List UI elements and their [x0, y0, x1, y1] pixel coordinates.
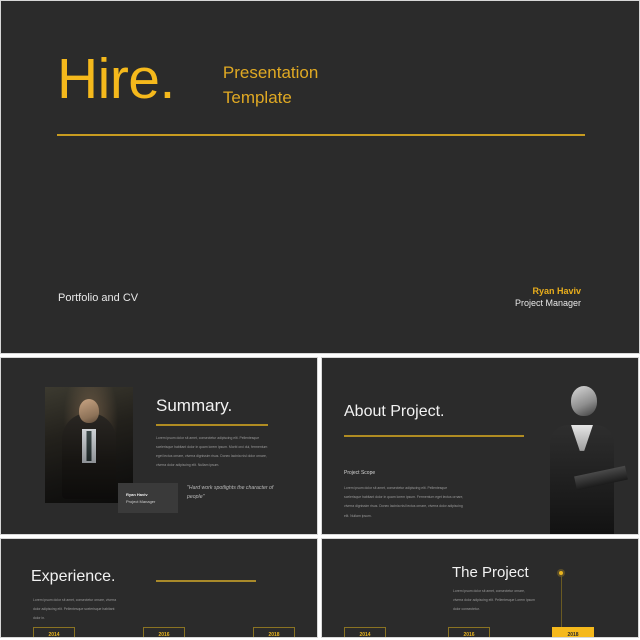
hero-footer-label: Portfolio and CV: [58, 292, 138, 304]
the-project-year-list: 2014 2016 2018: [344, 627, 594, 638]
photo-head: [79, 399, 99, 423]
hero-title-row: Hire. Presentation Template: [57, 53, 318, 110]
experience-divider-rule: [156, 580, 256, 582]
experience-body-text: Lorem ipsum dolor sit amet, consectetur …: [33, 596, 121, 624]
hero-slide[interactable]: Hire. Presentation Template Portfolio an…: [0, 0, 640, 354]
slide-row-bottom: Experience. Lorem ipsum dolor sit amet, …: [0, 538, 640, 638]
hero-subtitle-line-1: Presentation: [223, 61, 318, 86]
hero-byline: Ryan Haviv Project Manager: [515, 285, 581, 309]
slide-deck-preview: Hire. Presentation Template Portfolio an…: [0, 0, 640, 640]
experience-year-list: 2014 2016 2018: [33, 627, 295, 638]
timeline-connector-line: [561, 575, 562, 627]
about-project-body-text: Lorem ipsum dolor sit amet, consectetur …: [344, 484, 464, 521]
hero-subtitle: Presentation Template: [223, 61, 318, 110]
the-project-year-item[interactable]: 2014: [344, 627, 386, 638]
hero-divider-rule: [57, 134, 585, 136]
hero-subtitle-line-2: Template: [223, 86, 318, 111]
about-project-slide[interactable]: About Project. Project Scope Lorem ipsum…: [321, 357, 639, 535]
photo-tie: [87, 431, 92, 461]
summary-title: Summary.: [156, 396, 232, 416]
summary-nameplate-role: Project Manager: [126, 499, 178, 504]
about-project-divider-rule: [344, 435, 524, 437]
summary-divider-rule: [156, 424, 268, 426]
about-project-photo: [526, 358, 638, 534]
the-project-body-text: Lorem ipsum dolor sit amet, consectetur …: [453, 587, 535, 615]
experience-slide[interactable]: Experience. Lorem ipsum dolor sit amet, …: [0, 538, 318, 638]
the-project-title: The Project: [452, 564, 529, 581]
the-project-year-item-active[interactable]: 2018: [552, 627, 594, 638]
the-project-year-item[interactable]: 2016: [448, 627, 490, 638]
summary-body-text: Lorem ipsum dolor sit amet, consectetur …: [156, 434, 274, 469]
experience-year-item[interactable]: 2018: [253, 627, 295, 638]
photo-head: [571, 386, 597, 416]
experience-title: Experience.: [31, 568, 116, 586]
about-project-title: About Project.: [344, 403, 445, 421]
brand-title: Hire.: [57, 53, 175, 105]
summary-nameplate: Ryan Haviv Project Manager: [118, 483, 178, 513]
experience-year-item[interactable]: 2014: [33, 627, 75, 638]
summary-slide[interactable]: Summary. Lorem ipsum dolor sit amet, con…: [0, 357, 318, 535]
experience-year-item[interactable]: 2016: [143, 627, 185, 638]
summary-quote: "Hard work spotlights the character of p…: [187, 484, 279, 503]
hero-author-role: Project Manager: [515, 297, 581, 309]
hero-author-name: Ryan Haviv: [515, 285, 581, 297]
the-project-slide[interactable]: The Project Lorem ipsum dolor sit amet, …: [321, 538, 639, 638]
summary-nameplate-name: Ryan Haviv: [126, 492, 178, 497]
about-project-subheading: Project Scope: [344, 470, 375, 476]
slide-row-middle: Summary. Lorem ipsum dolor sit amet, con…: [0, 357, 640, 535]
